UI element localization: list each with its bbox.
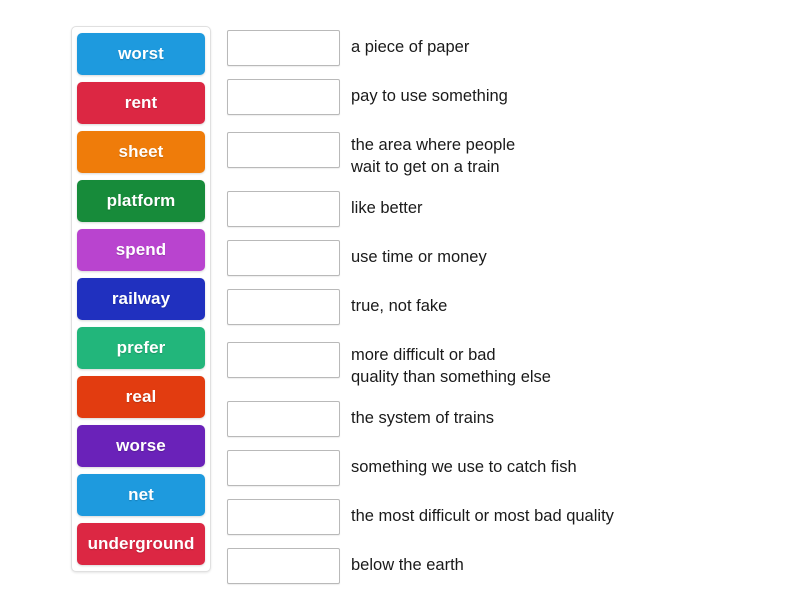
word-tile[interactable]: worse [77,425,205,467]
definition-text: use time or money [351,236,487,268]
answer-dropzone[interactable] [227,499,340,535]
definition-text: a piece of paper [351,26,469,58]
answer-row: the area where people wait to get on a t… [227,124,787,180]
definition-text: the most difficult or most bad quality [351,495,614,527]
answer-dropzone[interactable] [227,342,340,378]
word-tile[interactable]: railway [77,278,205,320]
word-tile[interactable]: real [77,376,205,418]
definition-text: pay to use something [351,75,508,107]
answer-row: the most difficult or most bad quality [227,495,787,537]
answer-dropzone[interactable] [227,240,340,276]
answer-dropzone[interactable] [227,132,340,168]
definition-text: true, not fake [351,285,447,317]
word-tile[interactable]: underground [77,523,205,565]
answer-row: a piece of paper [227,26,787,68]
word-tile[interactable]: worst [77,33,205,75]
answer-row: pay to use something [227,75,787,117]
answer-row: something we use to catch fish [227,446,787,488]
answer-dropzone[interactable] [227,289,340,325]
answer-row: true, not fake [227,285,787,327]
answer-row: the system of trains [227,397,787,439]
definition-text: something we use to catch fish [351,446,577,478]
answer-dropzone[interactable] [227,191,340,227]
answer-row: use time or money [227,236,787,278]
matchup-activity: worstrentsheetplatformspendrailwayprefer… [0,0,800,600]
word-tile[interactable]: rent [77,82,205,124]
answer-dropzone[interactable] [227,79,340,115]
answer-dropzone[interactable] [227,30,340,66]
definition-text: like better [351,187,423,219]
word-tiles-panel: worstrentsheetplatformspendrailwayprefer… [71,26,211,572]
word-tile[interactable]: platform [77,180,205,222]
definition-text: the system of trains [351,397,494,429]
answer-row: like better [227,187,787,229]
answer-rows-area: a piece of paperpay to use somethingthe … [227,26,787,586]
word-tile[interactable]: sheet [77,131,205,173]
definition-text: below the earth [351,544,464,576]
definition-text: the area where people wait to get on a t… [351,124,515,178]
answer-row: more difficult or bad quality than somet… [227,334,787,390]
definition-text: more difficult or bad quality than somet… [351,334,551,388]
answer-dropzone[interactable] [227,548,340,584]
answer-dropzone[interactable] [227,450,340,486]
word-tile[interactable]: spend [77,229,205,271]
answer-row: below the earth [227,544,787,586]
word-tile[interactable]: net [77,474,205,516]
answer-dropzone[interactable] [227,401,340,437]
word-tile[interactable]: prefer [77,327,205,369]
